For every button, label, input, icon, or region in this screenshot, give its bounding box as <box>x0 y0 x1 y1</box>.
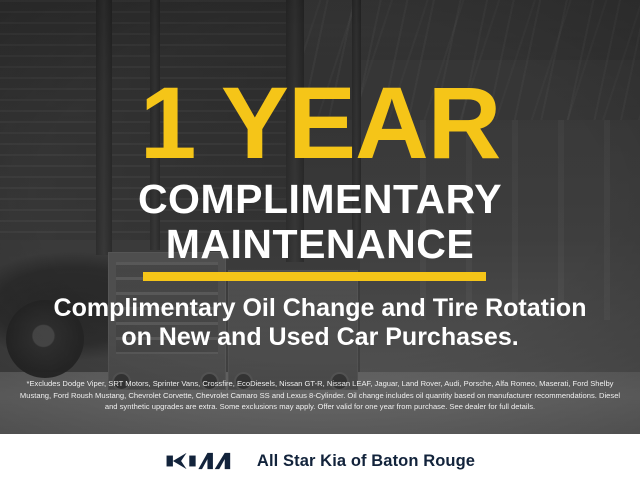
banner-content: 1 YEAR COMPLIMENTARY MAINTENANCE Complim… <box>0 0 640 434</box>
dealer-footer: All Star Kia of Baton Rouge <box>0 434 640 488</box>
yellow-divider-bar <box>143 272 486 281</box>
promo-banner: 1 YEAR COMPLIMENTARY MAINTENANCE Complim… <box>0 0 640 488</box>
disclaimer-text: *Excludes Dodge Viper, SRT Motors, Sprin… <box>14 378 626 413</box>
dealer-name: All Star Kia of Baton Rouge <box>257 452 475 471</box>
headline-complimentary: COMPLIMENTARY <box>0 179 640 220</box>
headline-maintenance: MAINTENANCE <box>0 224 640 265</box>
headline-year: 1 YEAR <box>0 72 640 174</box>
kia-logo-icon <box>165 451 239 471</box>
offer-description-line-2: on New and Used Car Purchases. <box>0 322 640 352</box>
offer-description-line-1: Complimentary Oil Change and Tire Rotati… <box>0 293 640 323</box>
